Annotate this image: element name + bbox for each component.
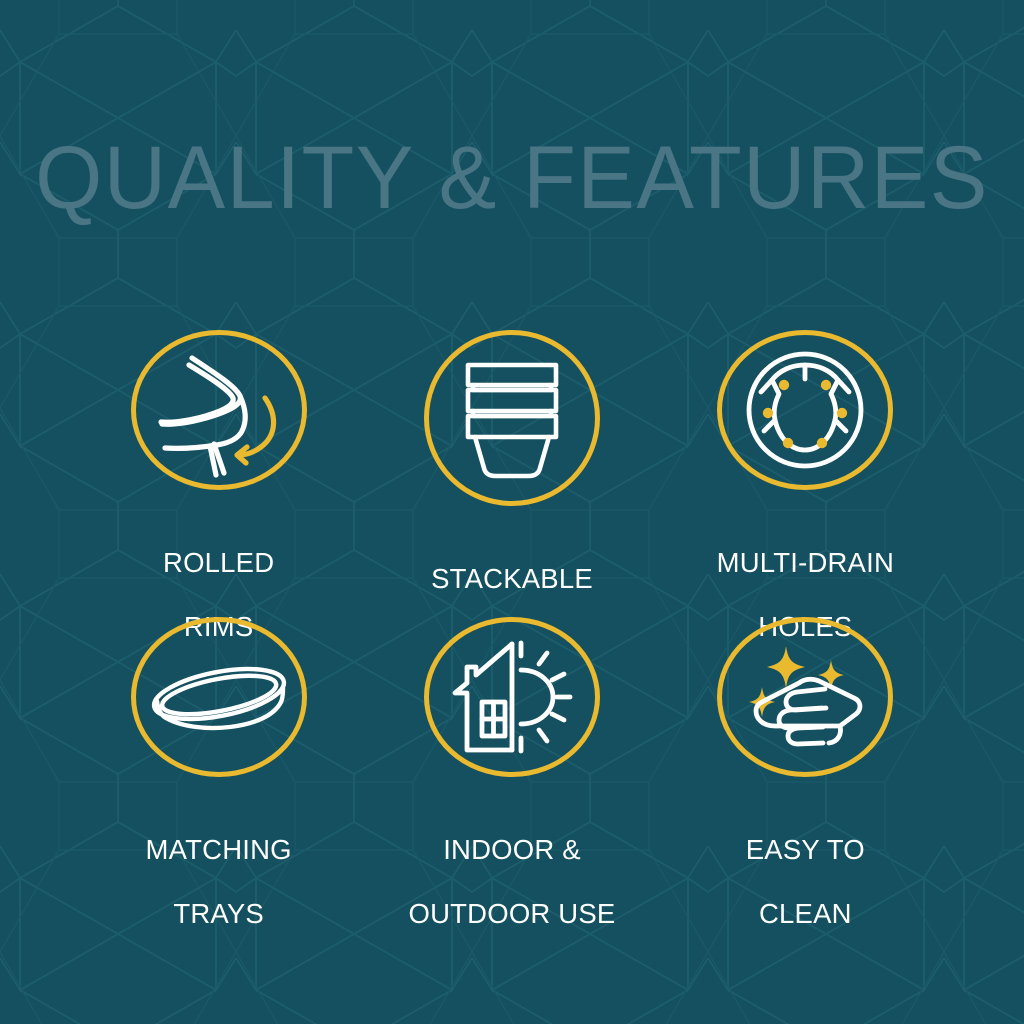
drain-holes-icon bbox=[730, 335, 880, 485]
feature-label-line1: ROLLED bbox=[163, 547, 274, 578]
feature-label-line1: MULTI-DRAIN bbox=[717, 547, 894, 578]
feature-label-line2: OUTDOOR USE bbox=[409, 898, 616, 929]
house-sun-icon bbox=[437, 622, 587, 772]
feature-label: EASY TO CLEAN bbox=[746, 802, 865, 930]
feature-label: STACKABLE bbox=[431, 531, 593, 595]
feature-label-line2: CLEAN bbox=[759, 898, 852, 929]
feature-label-line2: TRAYS bbox=[173, 898, 264, 929]
quality-features-infographic: QUALITY & FEATURES bbox=[0, 0, 1024, 1024]
feature-item-easy-to-clean[interactable]: EASY TO CLEAN bbox=[659, 617, 952, 904]
feature-label-line1: MATCHING bbox=[146, 834, 292, 865]
feature-label: INDOOR & OUTDOOR USE bbox=[409, 802, 616, 930]
feature-badge bbox=[131, 617, 307, 777]
stacked-pots-icon bbox=[437, 343, 587, 493]
feature-badge bbox=[424, 330, 600, 506]
feature-label-line1: INDOOR & bbox=[443, 834, 581, 865]
feature-grid: ROLLED RIMS bbox=[72, 330, 952, 904]
feature-item-stackable[interactable]: STACKABLE bbox=[365, 330, 658, 617]
feature-item-matching-trays[interactable]: MATCHING TRAYS bbox=[72, 617, 365, 904]
page-title: QUALITY & FEATURES bbox=[15, 133, 1008, 222]
feature-label-line1: EASY TO bbox=[746, 834, 865, 865]
feature-badge bbox=[717, 330, 893, 490]
sparkle-icons bbox=[749, 646, 844, 717]
hand-wipe-sparkle-icon bbox=[730, 622, 880, 772]
feature-badge bbox=[717, 617, 893, 777]
tray-saucer-icon bbox=[144, 622, 294, 772]
feature-badge bbox=[131, 330, 307, 490]
feature-item-rolled-rims[interactable]: ROLLED RIMS bbox=[72, 330, 365, 617]
feature-item-indoor-outdoor-use[interactable]: INDOOR & OUTDOOR USE bbox=[365, 617, 658, 904]
rolled-rim-icon bbox=[144, 335, 294, 485]
feature-label: MATCHING TRAYS bbox=[146, 802, 292, 930]
feature-label-line1: STACKABLE bbox=[431, 563, 593, 594]
feature-item-multi-drain-holes[interactable]: MULTI-DRAIN HOLES bbox=[659, 330, 952, 617]
feature-badge bbox=[424, 617, 600, 777]
